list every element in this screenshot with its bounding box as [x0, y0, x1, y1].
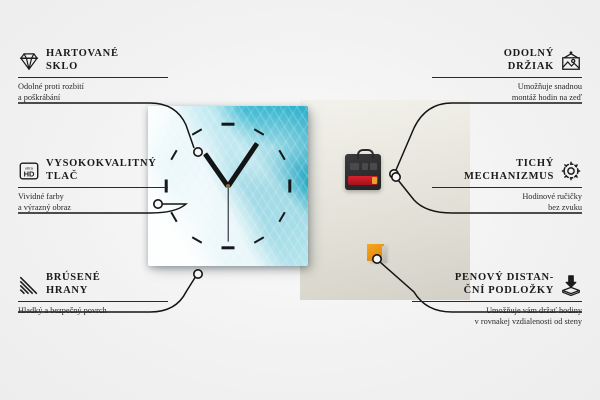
feature-desc-line1: Hladký a bezpečný povrch — [18, 306, 168, 317]
feature-desc-line1: Hodinové ručičky — [432, 192, 582, 203]
sanded-edges-icon — [18, 274, 40, 296]
feature-desc-line1: Umožňuje vám držať hodiny — [412, 306, 582, 317]
feature-desc-line1: Umožňuje snadnou — [432, 82, 582, 93]
feature-desc-line1: Vividné farby — [18, 192, 168, 203]
infographic-canvas: HARTOVANÉ SKLO Odolné proti rozbití a po… — [0, 0, 600, 400]
gear-icon — [560, 160, 582, 182]
feature-desc-line2: a výrazný obraz — [18, 203, 168, 214]
feature-high-quality-print: ultra HD VYSOKOKVALITNÝ TLAČ Vividné far… — [18, 158, 168, 213]
feature-divider — [412, 301, 582, 302]
feature-divider — [18, 187, 168, 188]
feature-divider — [432, 187, 582, 188]
feature-title-line1: TICHÝ — [432, 158, 554, 171]
feature-title-line1: BRÚSENÉ — [46, 272, 101, 285]
foam-pad-arrow-icon — [560, 274, 582, 296]
feature-header: ODOLNÝ DRŽIAK — [432, 48, 582, 73]
connector-dot-left-top — [194, 148, 202, 156]
feature-title-line2: ČNÍ PODLOŽKY — [412, 285, 554, 298]
feature-title-line2: SKLO — [46, 61, 119, 74]
feature-divider — [18, 77, 168, 78]
connector-dot-right-bottom — [373, 255, 381, 263]
feature-header: PENOVÝ DISTAN- ČNÍ PODLOŽKY — [412, 272, 582, 297]
feature-divider — [432, 77, 582, 78]
feature-header: ultra HD VYSOKOKVALITNÝ TLAČ — [18, 158, 168, 183]
feature-desc-line1: Odolné proti rozbití — [18, 82, 168, 93]
wall-mount-picture-icon — [560, 50, 582, 72]
feature-silent-mechanism: TICHÝ MECHANIZMUS Hodinové ručičky bez z… — [432, 158, 582, 213]
feature-desc-line2: bez zvuku — [432, 203, 582, 214]
feature-desc-line2: a poškrábání — [18, 93, 168, 104]
feature-title-line2: HRANY — [46, 285, 101, 298]
feature-title-line1: VYSOKOKVALITNÝ — [46, 158, 157, 171]
feature-foam-pads: PENOVÝ DISTAN- ČNÍ PODLOŽKY Umožňuje vám… — [412, 272, 582, 327]
connector-left-top — [18, 103, 194, 148]
feature-header: HARTOVANÉ SKLO — [18, 48, 168, 73]
feature-desc-line2: v rovnakej vzdialenosti od steny — [412, 317, 582, 328]
feature-title-line1: PENOVÝ DISTAN- — [412, 272, 554, 285]
connector-dot-left-bottom — [194, 270, 202, 278]
feature-title-line2: MECHANIZMUS — [432, 171, 554, 184]
feature-title-line1: ODOLNÝ — [432, 48, 554, 61]
feature-title-line2: TLAČ — [46, 171, 157, 184]
feature-tempered-glass: HARTOVANÉ SKLO Odolné proti rozbití a po… — [18, 48, 168, 103]
feature-desc-line2: montáž hodin na zeď — [432, 93, 582, 104]
feature-durable-holder: ODOLNÝ DRŽIAK Umožňuje snadnou montáž ho… — [432, 48, 582, 103]
feature-title-line1: HARTOVANÉ — [46, 48, 119, 61]
feature-title-line2: DRŽIAK — [432, 61, 554, 74]
feature-sanded-edges: BRÚSENÉ HRANY Hladký a bezpečný povrch — [18, 272, 168, 317]
svg-text:HD: HD — [24, 169, 35, 178]
feature-header: TICHÝ MECHANIZMUS — [432, 158, 582, 183]
ultra-hd-icon: ultra HD — [18, 160, 40, 182]
connector-dot-right-mid — [392, 173, 400, 181]
feature-header: BRÚSENÉ HRANY — [18, 272, 168, 297]
feature-divider — [18, 301, 168, 302]
diamond-icon — [18, 50, 40, 72]
clock-center-pin — [226, 184, 230, 188]
